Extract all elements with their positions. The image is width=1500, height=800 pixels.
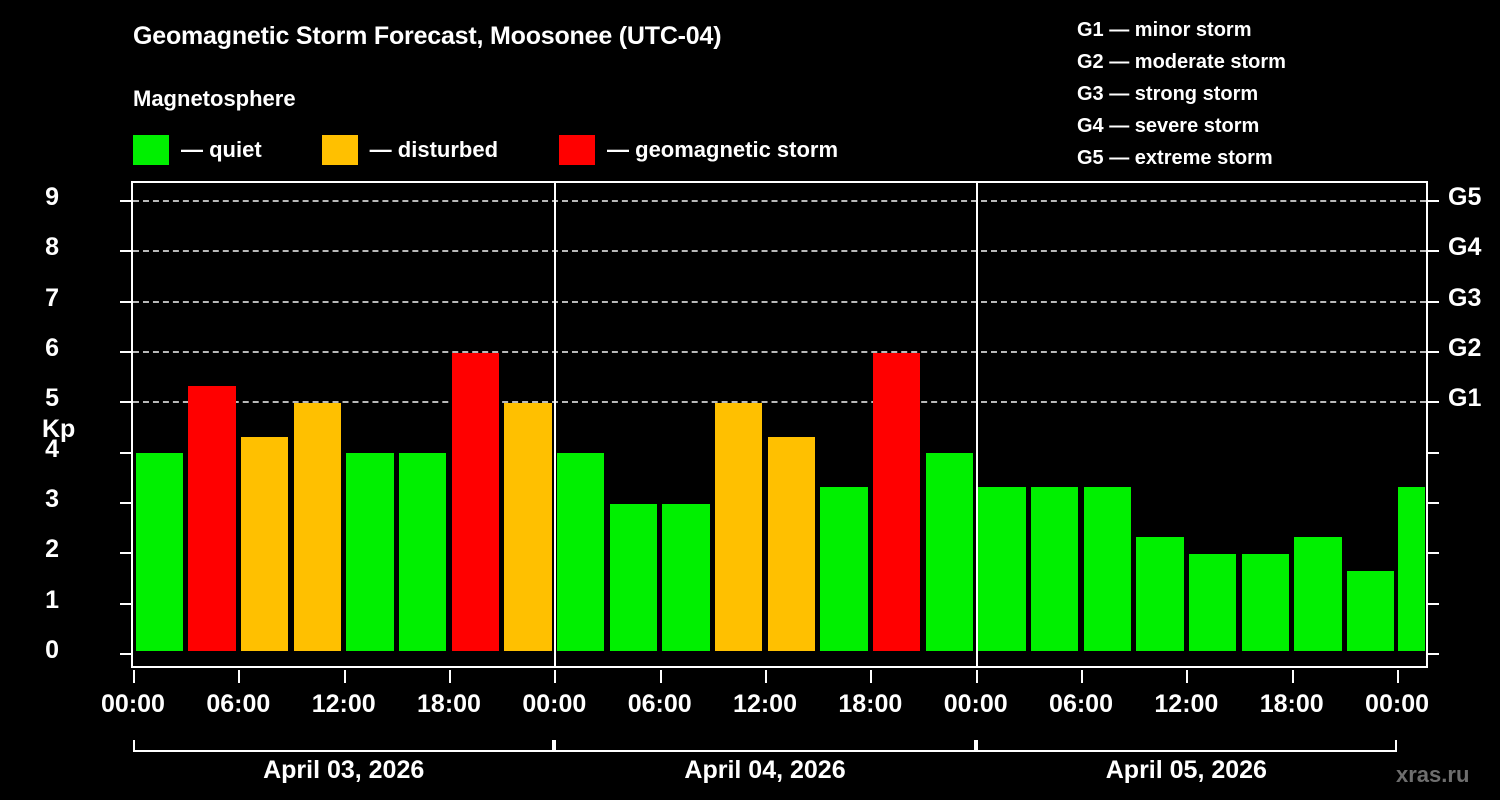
x-axis-label-3: 18:00 [417,690,481,719]
gscale-line-g2: G2 — moderate storm [1077,46,1286,78]
chart-canvas: Geomagnetic Storm Forecast, Moosonee (UT… [0,0,1500,800]
x-axis-label-4: 00:00 [522,690,586,719]
y-axis-label-7: 7 [45,284,59,313]
x-tick-12 [1397,670,1399,683]
bar-18[interactable] [1084,487,1131,651]
y-axis-label-g5: G5 [1448,183,1481,212]
x-axis-label-0: 00:00 [101,690,165,719]
y-axis-label-9: 9 [45,183,59,212]
x-axis-label-12: 00:00 [1365,690,1429,719]
bar-series [133,183,1426,666]
y-tick-left-9 [120,200,131,202]
x-tick-10 [1186,670,1188,683]
y-axis-label-8: 8 [45,233,59,262]
y-tick-right-7 [1428,301,1439,303]
y-tick-left-5 [120,401,131,403]
bar-23[interactable] [1347,571,1394,651]
legend: — quiet — disturbed — geomagnetic storm [133,133,838,167]
gscale-line-g4: G4 — severe storm [1077,110,1286,142]
bar-15[interactable] [926,453,973,651]
bar-6[interactable] [452,353,499,651]
bar-2[interactable] [241,437,288,651]
bar-7[interactable] [504,403,551,651]
gscale-line-g1: G1 — minor storm [1077,14,1286,46]
legend-swatch-geomagnetic-storm [559,135,595,165]
bar-21[interactable] [1242,554,1289,651]
x-axis-label-2: 12:00 [312,690,376,719]
plot-area [131,181,1428,668]
y-axis-label-3: 3 [45,485,59,514]
x-axis-label-6: 12:00 [733,690,797,719]
bar-22[interactable] [1294,537,1341,651]
bar-1[interactable] [188,386,235,651]
x-axis-label-11: 18:00 [1260,690,1324,719]
x-axis-label-8: 00:00 [944,690,1008,719]
y-axis-label-2: 2 [45,535,59,564]
y-tick-left-2 [120,552,131,554]
y-tick-left-4 [120,452,131,454]
date-bracket-1 [133,740,554,752]
x-tick-6 [765,670,767,683]
date-label-2: April 04, 2026 [684,756,845,785]
bar-3[interactable] [294,403,341,651]
legend-swatch-quiet [133,135,169,165]
y-tick-right-5 [1428,401,1439,403]
y-tick-left-6 [120,351,131,353]
y-tick-right-1 [1428,603,1439,605]
y-tick-left-1 [120,603,131,605]
gscale-legend: G1 — minor storm G2 — moderate storm G3 … [1077,14,1286,174]
x-tick-3 [449,670,451,683]
bar-0[interactable] [136,453,183,651]
y-tick-left-0 [120,653,131,655]
x-axis-label-9: 06:00 [1049,690,1113,719]
y-axis-label-g1: G1 [1448,384,1481,413]
y-axis-label-5: 5 [45,384,59,413]
bar-8[interactable] [557,453,604,651]
legend-label-disturbed: — disturbed [370,137,498,163]
y-axis-label-6: 6 [45,334,59,363]
bar-17[interactable] [1031,487,1078,651]
y-axis-label-g4: G4 [1448,233,1481,262]
bar-10[interactable] [662,504,709,651]
y-axis-label-g3: G3 [1448,284,1481,313]
date-bracket-2 [554,740,975,752]
bar-19[interactable] [1136,537,1183,651]
legend-item-geomagnetic-storm[interactable]: — geomagnetic storm [559,135,838,165]
x-tick-9 [1081,670,1083,683]
y-tick-left-3 [120,502,131,504]
x-tick-11 [1292,670,1294,683]
legend-label-geomagnetic-storm: — geomagnetic storm [607,137,838,163]
x-tick-8 [976,670,978,683]
date-label-1: April 03, 2026 [263,756,424,785]
gscale-line-g5: G5 — extreme storm [1077,142,1286,174]
x-axis-label-1: 06:00 [206,690,270,719]
bar-16[interactable] [978,487,1025,651]
bar-13[interactable] [820,487,867,651]
x-tick-1 [238,670,240,683]
x-tick-0 [133,670,135,683]
y-tick-right-9 [1428,200,1439,202]
legend-item-disturbed[interactable]: — disturbed [322,135,498,165]
legend-label-quiet: — quiet [181,137,262,163]
page-title: Geomagnetic Storm Forecast, Moosonee (UT… [133,22,721,51]
bar-4[interactable] [346,453,393,651]
y-tick-right-3 [1428,502,1439,504]
bar-5[interactable] [399,453,446,651]
bar-20[interactable] [1189,554,1236,651]
x-tick-5 [660,670,662,683]
section-label-magnetosphere: Magnetosphere [133,86,296,112]
y-tick-right-6 [1428,351,1439,353]
x-tick-4 [554,670,556,683]
bar-24[interactable] [1398,487,1425,651]
x-axis-label-5: 06:00 [628,690,692,719]
date-bracket-3 [976,740,1397,752]
y-tick-right-2 [1428,552,1439,554]
bar-9[interactable] [610,504,657,651]
legend-swatch-disturbed [322,135,358,165]
bar-14[interactable] [873,353,920,651]
y-axis-label-4: 4 [45,435,59,464]
x-axis-label-10: 12:00 [1154,690,1218,719]
y-axis-label-1: 1 [45,586,59,615]
y-tick-right-8 [1428,250,1439,252]
bar-11[interactable] [715,403,762,651]
y-tick-left-7 [120,301,131,303]
date-label-3: April 05, 2026 [1106,756,1267,785]
bar-12[interactable] [768,437,815,651]
y-tick-right-4 [1428,452,1439,454]
x-axis-label-7: 18:00 [838,690,902,719]
gscale-line-g3: G3 — strong storm [1077,78,1286,110]
watermark: xras.ru [1396,762,1469,788]
y-tick-right-0 [1428,653,1439,655]
y-axis-label-g2: G2 [1448,334,1481,363]
y-tick-left-8 [120,250,131,252]
x-tick-7 [870,670,872,683]
y-axis-label-0: 0 [45,636,59,665]
x-tick-2 [344,670,346,683]
legend-item-quiet[interactable]: — quiet [133,135,262,165]
